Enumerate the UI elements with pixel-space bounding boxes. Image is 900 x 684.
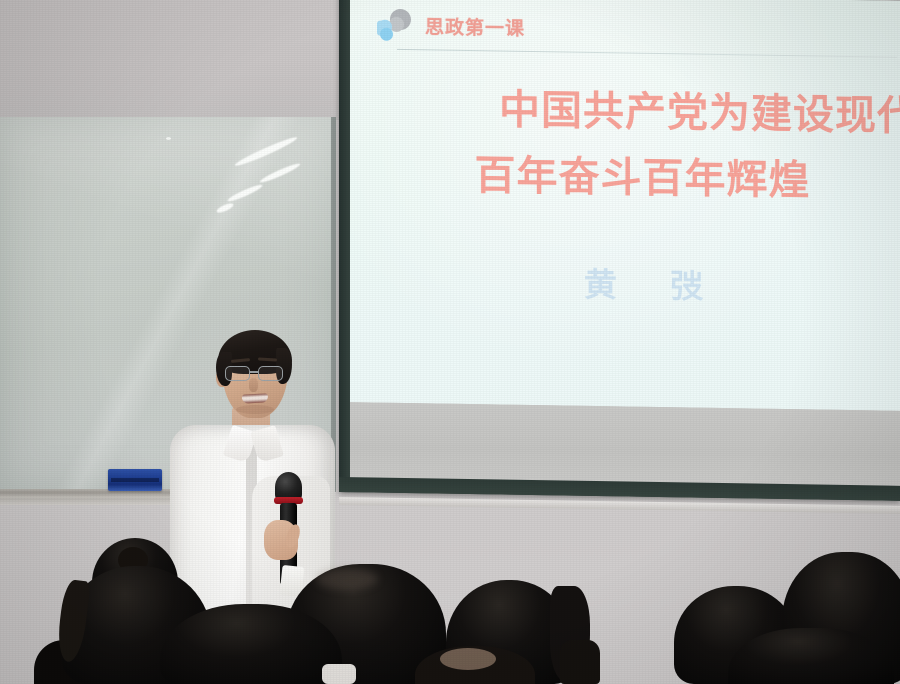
student-scalp — [440, 648, 496, 670]
slide-divider — [397, 49, 897, 58]
slide-header-label: 思政第一课 — [425, 12, 525, 41]
slide-header: 思政第一课 — [377, 9, 525, 43]
student-hair-strand — [560, 640, 600, 684]
screen-left-edge — [339, 0, 350, 492]
projection-screen-blank-area — [349, 402, 900, 487]
slide-title-line-1: 中国共产党为建设现代化国 — [499, 77, 900, 149]
slide-title: 中国共产党为建设现代化国 百年奋斗百年辉煌 — [349, 74, 900, 215]
student-collar — [322, 664, 356, 684]
eyeglass-lens-left — [225, 366, 250, 381]
eyeglass-bridge — [250, 371, 258, 373]
logo-blue-bottom — [380, 28, 393, 41]
upper-wall — [0, 0, 360, 120]
whiteboard-speck — [166, 137, 171, 140]
projected-slide: 思政第一课 中国共产党为建设现代化国 百年奋斗百年辉煌 黄 弢 — [349, 0, 900, 411]
slide-title-line-2: 百年奋斗百年辉煌 — [385, 141, 900, 215]
projection-screen-frame: 思政第一课 中国共产党为建设现代化国 百年奋斗百年辉煌 黄 弢 — [339, 0, 900, 501]
student-hair-highlight — [316, 568, 378, 590]
speaker-chin-shadow — [236, 405, 274, 414]
board-eraser — [108, 469, 162, 491]
clover-p-logo-icon — [377, 9, 411, 42]
eyeglass-lens-right — [258, 366, 283, 381]
speaker-nose — [249, 378, 258, 392]
speaker-mouth — [242, 393, 268, 403]
slide-author-name: 黄 弢 — [379, 255, 900, 312]
lecture-photograph: 思政第一课 中国共产党为建设现代化国 百年奋斗百年辉煌 黄 弢 — [0, 0, 900, 684]
